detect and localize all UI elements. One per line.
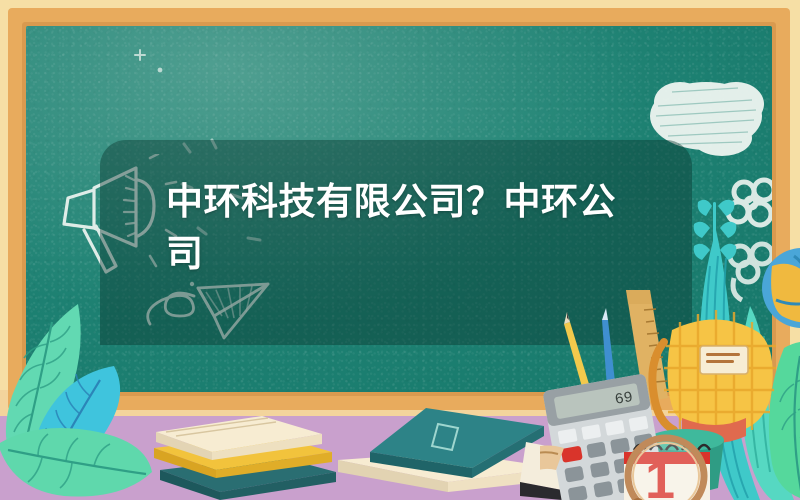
calculator-display: 69 — [614, 389, 635, 409]
school-supplies-cluster: 69 — [540, 290, 800, 500]
books-stack-center — [330, 400, 570, 500]
banner-illustration: 中环科技有限公司？中环公 司 — [0, 0, 800, 500]
page-title-line-1: 中环科技有限公司？中环公 — [166, 180, 616, 223]
books-stack-left — [150, 396, 350, 500]
backpack-icon — [652, 310, 776, 443]
page-title: 中环科技有限公司？中环公 司 — [166, 176, 666, 280]
page-title-line-2: 司 — [166, 232, 204, 275]
sprig-leaves — [694, 200, 737, 266]
